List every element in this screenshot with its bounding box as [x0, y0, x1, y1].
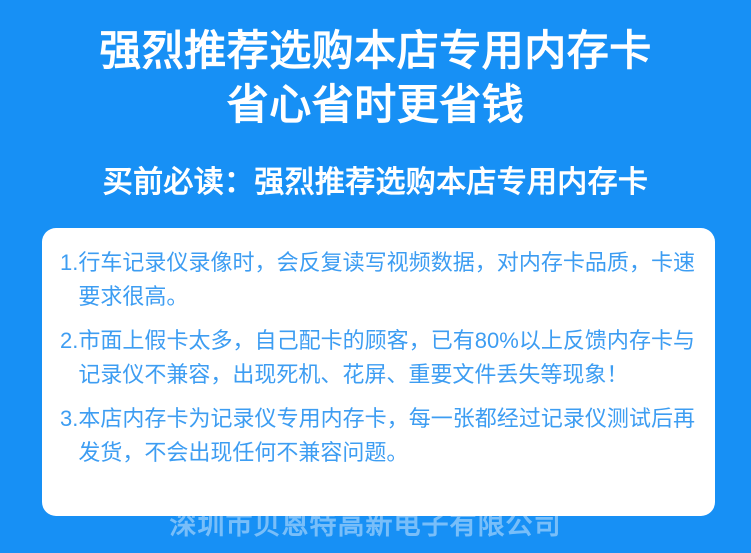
promo-banner: 强烈推荐选购本店专用内存卡 省心省时更省钱 买前必读：强烈推荐选购本店专用内存卡…	[0, 0, 751, 553]
notice-item: 3. 本店内存卡为记录仪专用内存卡，每一张都经过记录仪测试后再发货，不会出现任何…	[60, 402, 695, 470]
subtitle: 买前必读：强烈推荐选购本店专用内存卡	[0, 163, 751, 203]
notice-item-text: 市面上假卡太多，自己配卡的顾客，已有80%以上反馈内存卡与记录仪不兼容，出现死机…	[78, 324, 695, 392]
notice-item-text: 本店内存卡为记录仪专用内存卡，每一张都经过记录仪测试后再发货，不会出现任何不兼容…	[78, 402, 695, 470]
notice-item: 2. 市面上假卡太多，自己配卡的顾客，已有80%以上反馈内存卡与记录仪不兼容，出…	[60, 324, 695, 392]
notice-item-number: 1.	[60, 246, 78, 280]
headline-line-2: 省心省时更省钱	[0, 78, 751, 132]
notice-item-number: 3.	[60, 402, 78, 436]
notice-card: 1. 行车记录仪录像时，会反复读写视频数据，对内存卡品质，卡速要求很高。 2. …	[42, 228, 715, 516]
headline-block: 强烈推荐选购本店专用内存卡 省心省时更省钱	[0, 24, 751, 132]
notice-item-text: 行车记录仪录像时，会反复读写视频数据，对内存卡品质，卡速要求很高。	[78, 246, 695, 314]
notice-item: 1. 行车记录仪录像时，会反复读写视频数据，对内存卡品质，卡速要求很高。	[60, 246, 695, 314]
notice-item-number: 2.	[60, 324, 78, 358]
headline-line-1: 强烈推荐选购本店专用内存卡	[0, 24, 751, 78]
